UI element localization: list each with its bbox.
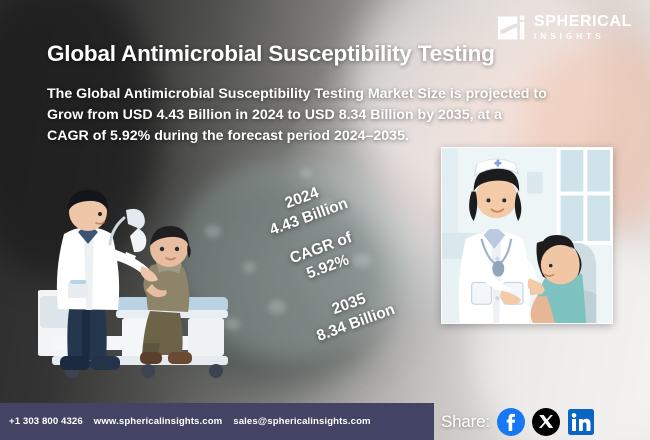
market-summary-text: The Global Antimicrobial Susceptibility … (47, 84, 547, 147)
logo-wordmark-primary: SPHERICAL (534, 14, 632, 30)
linkedin-icon[interactable] (567, 408, 595, 436)
page-title: Global Antimicrobial Susceptibility Test… (47, 41, 587, 67)
footer-contact-bar: +1 303 800 4326 www.sphericalinsights.co… (0, 403, 434, 440)
background-microbe (268, 300, 286, 314)
nurse-vaccinating-patient-illustration (441, 147, 613, 324)
share-label: Share: (441, 412, 490, 432)
x-twitter-icon[interactable] (532, 408, 560, 436)
footer-website[interactable]: www.sphericalinsights.com (94, 416, 223, 427)
background-microbe (300, 168, 312, 178)
footer-phone[interactable]: +1 303 800 4326 (9, 416, 83, 427)
spherical-insights-logo-icon (497, 14, 527, 42)
footer-email[interactable]: sales@sphericalinsights.com (233, 416, 370, 427)
facebook-icon[interactable] (497, 408, 525, 436)
logo-wordmark-secondary: INSIGHTS (534, 33, 632, 41)
share-section: Share: (441, 403, 595, 440)
brand-logo[interactable]: SPHERICAL INSIGHTS (497, 14, 632, 42)
doctor-examining-patient-illustration (38, 170, 268, 400)
